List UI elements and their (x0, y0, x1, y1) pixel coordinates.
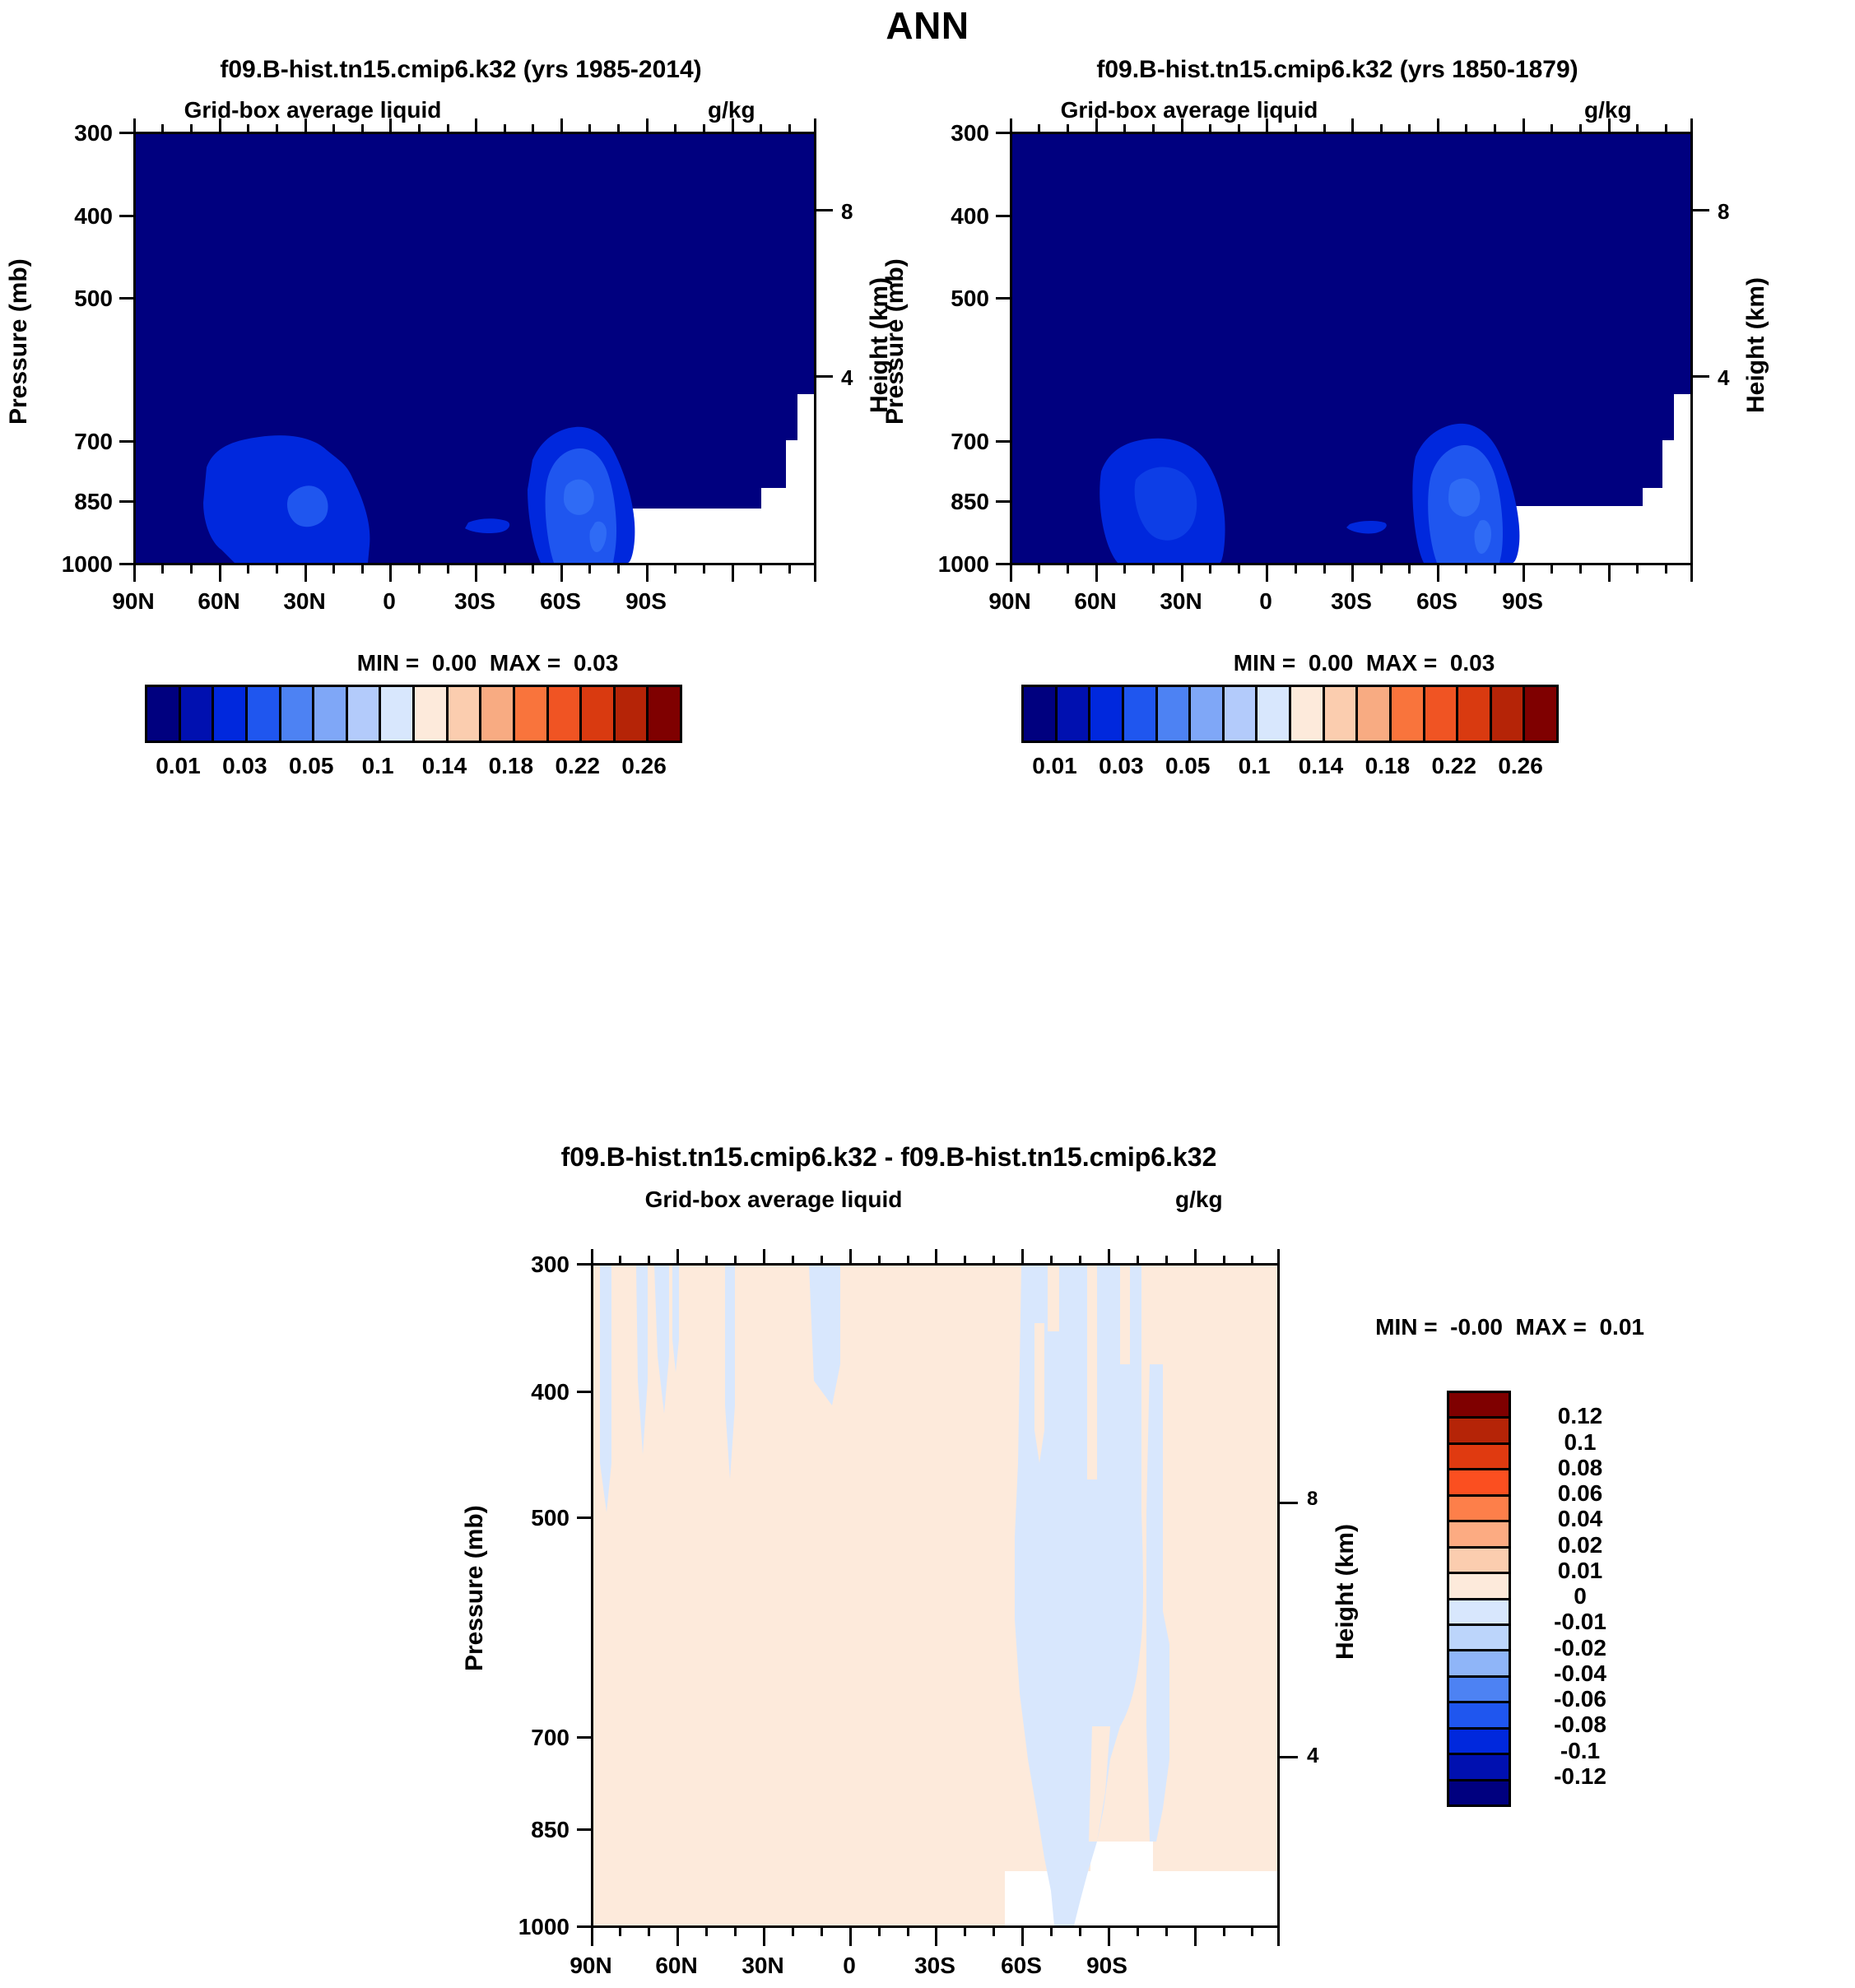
colorbar-cell[interactable] (1124, 687, 1158, 741)
colorbar-tick-label: -0.1 (1518, 1738, 1642, 1764)
max-value: 0.03 (1450, 650, 1495, 676)
pressure-tick-label: 1000 (20, 551, 113, 578)
lat-tick-label: 30N (714, 1953, 812, 1979)
lat-tick-label: 90S (1058, 1953, 1156, 1979)
pressure-tick-label: 1000 (896, 551, 989, 578)
panel-title-top-right: f09.B-hist.tn15.cmip6.k32 (yrs 1850-1879… (876, 56, 1798, 84)
panel-title-top-left: f09.B-hist.tn15.cmip6.k32 (yrs 1985-2014… (0, 56, 922, 84)
lat-tick-label: 30N (255, 588, 354, 615)
pressure-tick-label: 400 (37, 203, 113, 230)
panel-top-right: f09.B-hist.tn15.cmip6.k32 (yrs 1850-1879… (876, 49, 1798, 1119)
y-axis-title-top-right: Pressure (mb) (881, 206, 909, 477)
colorbar-tick-label: -0.12 (1518, 1763, 1642, 1790)
colorbar-tick-label: 0.26 (621, 753, 667, 779)
colorbar-tick-label: 0.22 (555, 753, 600, 779)
contour-field-bottom-diff (593, 1266, 1277, 1925)
y2-axis-title-bottom-diff: Height (km) (1332, 1456, 1360, 1728)
colorbar-cell[interactable] (1058, 687, 1091, 741)
pressure-tick-label: 700 (37, 429, 113, 455)
colorbar-tick-label: 0.18 (489, 753, 534, 779)
colorbar-tick-label: 0.22 (1431, 753, 1476, 779)
left-axis-ticks-top-left (119, 132, 133, 565)
max-label: MAX = (490, 650, 560, 676)
lat-tick-label: 30S (425, 588, 524, 615)
figure-season-title: ANN (0, 3, 1855, 48)
bottom-axis-ticks-top-left (133, 565, 816, 582)
colorbar-tick-label: 0.14 (422, 753, 467, 779)
lat-tick-label: 60N (1046, 588, 1145, 615)
right-axis-ticks-bottom-diff (1280, 1263, 1298, 1928)
y2-axis-title-top-right: Height (km) (1742, 214, 1770, 477)
colorbar-cell[interactable] (381, 687, 415, 741)
plot-area-bottom-diff (591, 1263, 1280, 1928)
pressure-tick-label: 700 (914, 429, 989, 455)
pressure-tick-label: 850 (37, 489, 113, 515)
right-axis-ticks-top-left (816, 132, 833, 565)
colorbar-cell[interactable] (582, 687, 616, 741)
colorbar-tick-label: 0.18 (1365, 753, 1411, 779)
colorbar-tick-label: 0.1 (362, 753, 394, 779)
colorbar-cell[interactable] (449, 687, 482, 741)
min-label: MIN = (1375, 1314, 1437, 1340)
lat-tick-label: 0 (1216, 588, 1315, 615)
panel-variable-label-bottom-diff: Grid-box average liquid (543, 1187, 1004, 1213)
lat-tick-label: 60N (627, 1953, 726, 1979)
colorbar-cell[interactable] (1090, 687, 1124, 741)
colorbar-tick-label: 0.14 (1299, 753, 1344, 779)
panel-title-bottom-diff: f09.B-hist.tn15.cmip6.k32 - f09.B-hist.t… (313, 1142, 1465, 1173)
colorbar-cell[interactable] (481, 687, 515, 741)
colorbar-tick-label: -0.04 (1518, 1661, 1642, 1687)
colorbar-tick-label: 0.1 (1518, 1429, 1642, 1456)
colorbar-tick-label: -0.06 (1518, 1686, 1642, 1712)
height-tick-label: 4 (1718, 365, 1729, 391)
pressure-tick-label: 400 (494, 1379, 570, 1405)
min-label: MIN = (357, 650, 419, 676)
colorbar-cell[interactable] (214, 687, 248, 741)
colorbar-cell[interactable] (348, 687, 382, 741)
colorbar-cell[interactable] (1449, 1445, 1509, 1470)
colorbar-cell[interactable] (1225, 687, 1258, 741)
colorbar-tick-label: -0.08 (1518, 1712, 1642, 1738)
lat-tick-label: 30S (886, 1953, 984, 1979)
colorbar-tick-label: -0.01 (1518, 1609, 1642, 1635)
bottom-axis-ticks-top-right (1010, 565, 1693, 582)
colorbar-tick-label: 0.05 (289, 753, 334, 779)
colorbar-cell[interactable] (1449, 1497, 1509, 1522)
max-value: 0.03 (574, 650, 619, 676)
colorbar-top-right[interactable] (1021, 685, 1559, 743)
pressure-tick-label: 300 (914, 120, 989, 146)
colorbar-cell[interactable] (1492, 687, 1526, 741)
top-axis-ticks-bottom-diff (591, 1249, 1280, 1264)
colorbar-cell[interactable] (1449, 1549, 1509, 1574)
left-axis-ticks-top-right (996, 132, 1010, 565)
colorbar-labels-bottom-diff: 0.120.10.080.060.040.020.010-0.01-0.02-0… (1518, 1391, 1683, 1802)
pressure-tick-label: 1000 (477, 1914, 570, 1940)
contour-field-top-left (136, 134, 814, 563)
height-tick-label: 4 (1307, 1743, 1318, 1768)
colorbar-tick-label: -0.02 (1518, 1635, 1642, 1661)
colorbar-cell[interactable] (1425, 687, 1459, 741)
colorbar-cell[interactable] (415, 687, 449, 741)
colorbar-tick-label: 0.04 (1518, 1506, 1642, 1532)
colorbar-cell[interactable] (281, 687, 315, 741)
pressure-tick-label: 500 (914, 286, 989, 312)
contour-field-top-right (1012, 134, 1690, 563)
colorbar-tick-label: 0.1 (1239, 753, 1271, 779)
panel-bottom-diff: f09.B-hist.tn15.cmip6.k32 - f09.B-hist.t… (0, 1136, 1855, 1988)
panel-top-left: f09.B-hist.tn15.cmip6.k32 (yrs 1985-2014… (0, 49, 922, 1119)
colorbar-top-left[interactable] (145, 685, 682, 743)
colorbar-cell[interactable] (1191, 687, 1225, 741)
colorbar-tick-label: 0 (1518, 1583, 1642, 1609)
panel-units-label-bottom-diff: g/kg (1175, 1187, 1223, 1213)
pressure-tick-label: 700 (494, 1725, 570, 1751)
colorbar-tick-label: 0.02 (1518, 1532, 1642, 1558)
colorbar-cell[interactable] (1449, 1703, 1509, 1729)
colorbar-cell[interactable] (1392, 687, 1425, 741)
colorbar-cell[interactable] (1291, 687, 1325, 741)
height-tick-label: 4 (841, 365, 853, 391)
lat-tick-label: 90N (84, 588, 183, 615)
right-axis-ticks-top-right (1693, 132, 1709, 565)
y-axis-title-bottom-diff: Pressure (mb) (461, 1432, 489, 1744)
pressure-tick-label: 500 (37, 286, 113, 312)
height-tick-label: 8 (841, 199, 853, 225)
colorbar-cell[interactable] (1458, 687, 1492, 741)
colorbar-tick-label: 0.01 (1518, 1558, 1642, 1584)
pressure-tick-label: 850 (494, 1817, 570, 1843)
bottom-axis-ticks-bottom-diff (591, 1928, 1280, 1946)
colorbar-cell[interactable] (1449, 1522, 1509, 1548)
top-axis-ticks-top-right (1010, 118, 1693, 132)
plot-area-top-right (1010, 132, 1693, 565)
colorbar-cell[interactable] (1449, 1626, 1509, 1651)
pressure-tick-label: 300 (37, 120, 113, 146)
lat-tick-label: 60S (511, 588, 610, 615)
colorbar-cell[interactable] (181, 687, 215, 741)
top-axis-ticks-top-left (133, 118, 816, 132)
min-label: MIN = (1234, 650, 1295, 676)
pressure-tick-label: 500 (494, 1505, 570, 1531)
colorbar-cell[interactable] (1449, 1574, 1509, 1600)
minmax-text-bottom-diff: MIN = -0.00 MAX = 0.01 (1350, 1288, 1745, 1367)
lat-tick-label: 30N (1132, 588, 1230, 615)
colorbar-cell[interactable] (1449, 1419, 1509, 1444)
left-axis-ticks-bottom-diff (577, 1263, 591, 1928)
max-label: MAX = (1516, 1314, 1587, 1340)
colorbar-tick-label: 0.03 (1099, 753, 1144, 779)
lat-tick-label: 60S (972, 1953, 1071, 1979)
colorbar-tick-label: 0.01 (156, 753, 201, 779)
plot-area-top-left (133, 132, 816, 565)
lat-tick-label: 90S (597, 588, 695, 615)
y-axis-title-top-left: Pressure (mb) (5, 206, 33, 477)
min-value: -0.00 (1450, 1314, 1503, 1340)
colorbar-cell[interactable] (248, 687, 281, 741)
pressure-tick-label: 850 (914, 489, 989, 515)
lat-tick-label: 60S (1388, 588, 1486, 615)
max-label: MAX = (1366, 650, 1437, 676)
colorbar-cell[interactable] (1449, 1781, 1509, 1805)
colorbar-cell[interactable] (1449, 1651, 1509, 1677)
lat-tick-label: 30S (1302, 588, 1401, 615)
colorbar-cell[interactable] (1449, 1600, 1509, 1626)
colorbar-cell[interactable] (1449, 1393, 1509, 1419)
colorbar-tick-label: 0.03 (222, 753, 267, 779)
colorbar-cell[interactable] (1358, 687, 1392, 741)
colorbar-cell[interactable] (616, 687, 649, 741)
colorbar-labels-top-right: 0.010.030.050.10.140.180.220.26 (1021, 753, 1556, 786)
colorbar-cell[interactable] (515, 687, 549, 741)
lat-tick-label: 90S (1473, 588, 1572, 615)
colorbar-tick-label: 0.06 (1518, 1480, 1642, 1507)
min-value: 0.00 (1309, 650, 1354, 676)
colorbar-cell[interactable] (1024, 687, 1058, 741)
colorbar-cell[interactable] (1449, 1730, 1509, 1755)
colorbar-cell[interactable] (1525, 687, 1556, 741)
colorbar-cell[interactable] (1449, 1470, 1509, 1496)
height-tick-label: 8 (1307, 1488, 1318, 1511)
lat-tick-label: 0 (340, 588, 439, 615)
colorbar-labels-top-left: 0.010.030.050.10.140.180.220.26 (145, 753, 680, 786)
colorbar-tick-label: 0.08 (1518, 1455, 1642, 1481)
colorbar-bottom-diff[interactable] (1447, 1391, 1511, 1807)
lat-tick-label: 60N (170, 588, 268, 615)
lat-tick-label: 0 (800, 1953, 899, 1979)
pressure-tick-label: 300 (494, 1252, 570, 1278)
colorbar-cell[interactable] (1449, 1678, 1509, 1703)
colorbar-cell[interactable] (1325, 687, 1359, 741)
colorbar-cell[interactable] (1158, 687, 1192, 741)
pressure-tick-label: 400 (914, 203, 989, 230)
lat-tick-label: 90N (542, 1953, 640, 1979)
height-tick-label: 8 (1718, 199, 1729, 225)
colorbar-tick-label: 0.12 (1518, 1403, 1642, 1429)
colorbar-cell[interactable] (1449, 1755, 1509, 1781)
lat-tick-label: 90N (960, 588, 1059, 615)
colorbar-tick-label: 0.05 (1165, 753, 1211, 779)
colorbar-cell[interactable] (549, 687, 583, 741)
colorbar-cell[interactable] (1258, 687, 1291, 741)
colorbar-tick-label: 0.01 (1032, 753, 1077, 779)
colorbar-cell[interactable] (649, 687, 680, 741)
max-value: 0.01 (1599, 1314, 1644, 1340)
colorbar-tick-label: 0.26 (1498, 753, 1543, 779)
colorbar-cell[interactable] (314, 687, 348, 741)
min-value: 0.00 (432, 650, 477, 676)
colorbar-cell[interactable] (147, 687, 181, 741)
